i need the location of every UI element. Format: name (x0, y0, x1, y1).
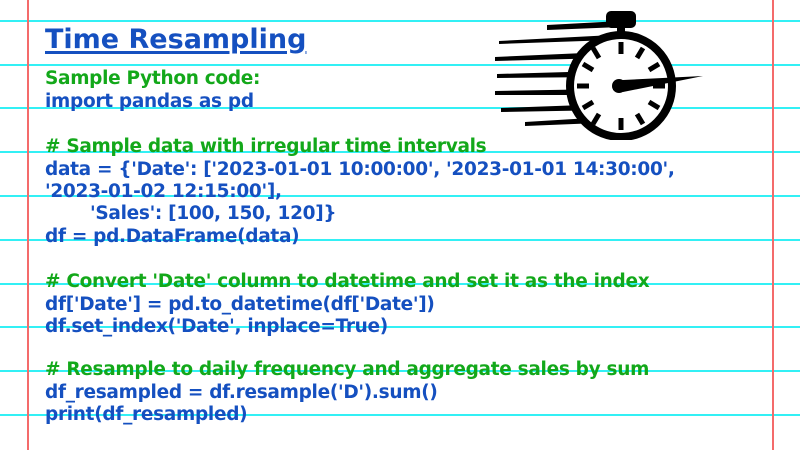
code-line-resample-sum: df_resampled = df.resample('D').sum() (45, 382, 438, 403)
comment-line-convert-date: # Convert 'Date' column to datetime and … (45, 271, 649, 292)
code-line-set-index: df.set_index('Date', inplace=True) (45, 316, 388, 337)
code-line-import-pandas: import pandas as pd (45, 91, 254, 112)
comment-line-sample-python-code: Sample Python code: (45, 68, 260, 89)
notebook-page: Time Resampling Sample Python code: impo… (0, 0, 800, 450)
code-line-print: print(df_resampled) (45, 404, 247, 425)
comment-line-resample: # Resample to daily frequency and aggreg… (45, 359, 649, 380)
page-title: Time Resampling (45, 24, 306, 55)
code-line-data-dict-open: data = {'Date': ['2023-01-01 10:00:00', … (45, 159, 675, 180)
code-line-to-datetime: df['Date'] = pd.to_datetime(df['Date']) (45, 294, 435, 315)
code-line-data-dict-dates-cont: '2023-01-02 12:15:00'], (45, 181, 282, 202)
comment-line-sample-data: # Sample data with irregular time interv… (45, 136, 486, 157)
code-line-data-dict-sales: 'Sales': [100, 150, 120]} (90, 203, 336, 224)
code-line-dataframe: df = pd.DataFrame(data) (45, 226, 299, 247)
code-sheet: Time Resampling Sample Python code: impo… (0, 0, 800, 450)
